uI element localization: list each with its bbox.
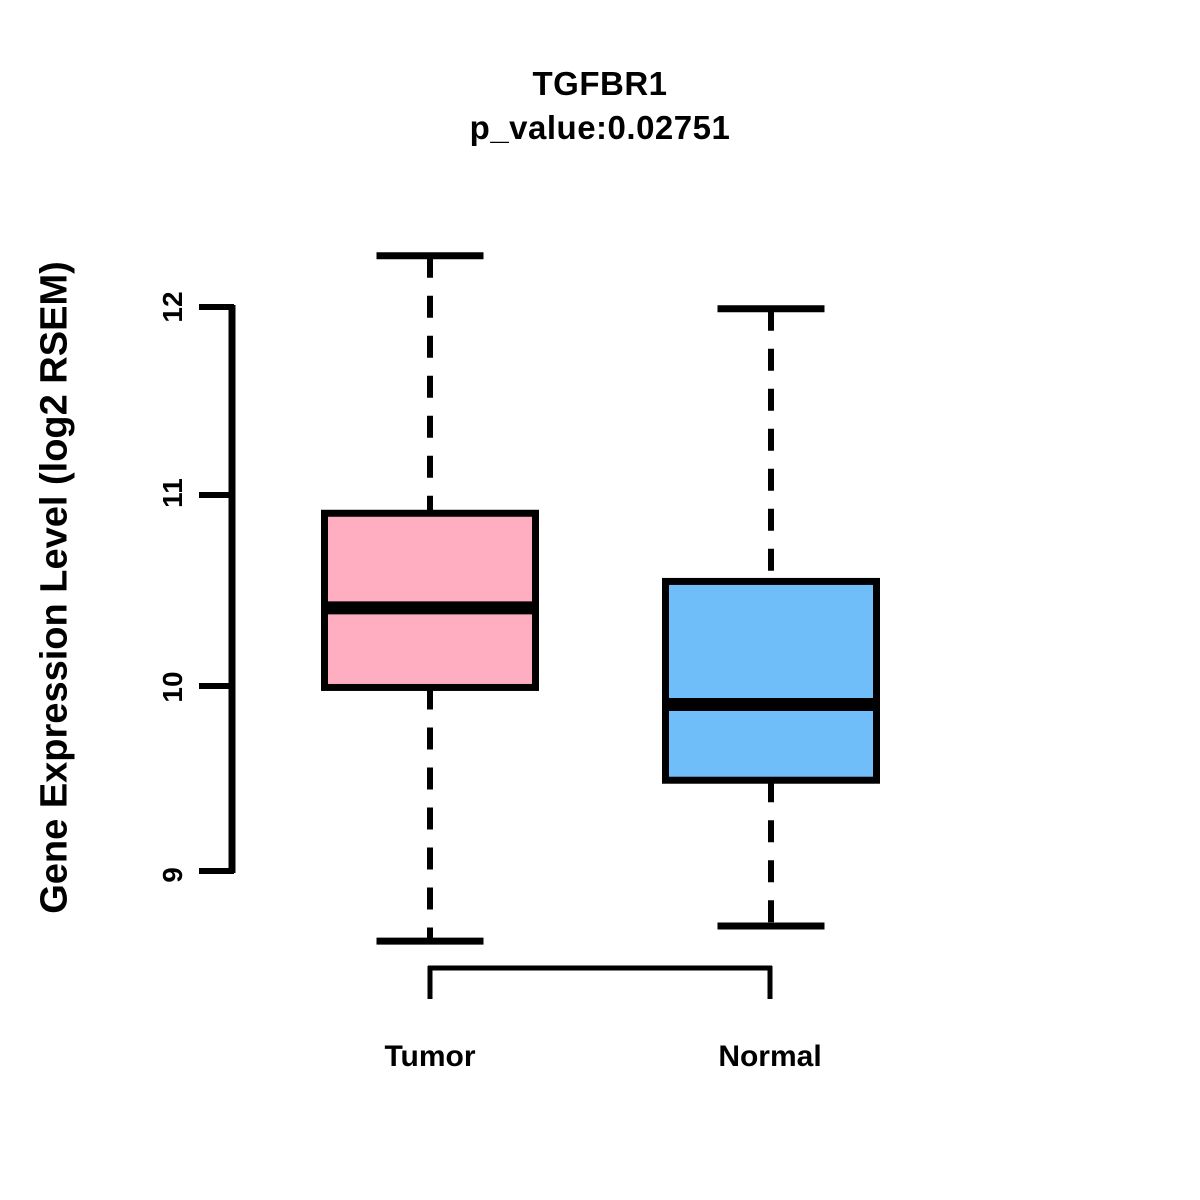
box-group-tumor[interactable] [322, 256, 539, 941]
box-rect-normal[interactable] [666, 581, 877, 780]
boxplot-figure: TGFBR1 p_value:0.02751 Gene Expression L… [0, 0, 1200, 1200]
box-rect-tumor[interactable] [325, 513, 536, 687]
box-group-normal[interactable] [663, 309, 880, 926]
y-axis [199, 305, 234, 873]
x-axis-bracket [428, 966, 772, 999]
plot-canvas [0, 0, 1200, 1200]
